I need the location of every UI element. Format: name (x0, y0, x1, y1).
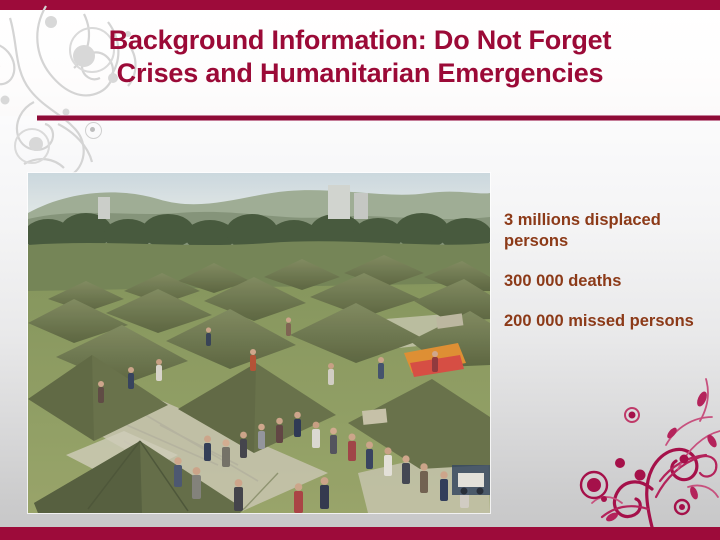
presentation-slide: Background Information: Do Not Forget Cr… (0, 0, 720, 540)
statistics-list: 3 millions displaced persons 300 000 dea… (504, 210, 709, 332)
top-accent-bar (0, 0, 720, 10)
bottom-accent-bar (0, 527, 720, 540)
statistic-item-deaths: 300 000 deaths (504, 271, 709, 292)
statistic-item-displaced: 3 millions displaced persons (504, 210, 709, 252)
ring-ornament-icon (85, 122, 102, 139)
refugee-camp-photo (28, 173, 490, 513)
title-line-1: Background Information: Do Not Forget (0, 24, 720, 57)
title-divider-rule (37, 115, 720, 121)
page-title: Background Information: Do Not Forget Cr… (0, 24, 720, 90)
floral-swirl-ornament-bottom-right (560, 377, 720, 527)
statistic-item-missed: 200 000 missed persons (504, 311, 709, 332)
title-line-2: Crises and Humanitarian Emergencies (0, 57, 720, 90)
